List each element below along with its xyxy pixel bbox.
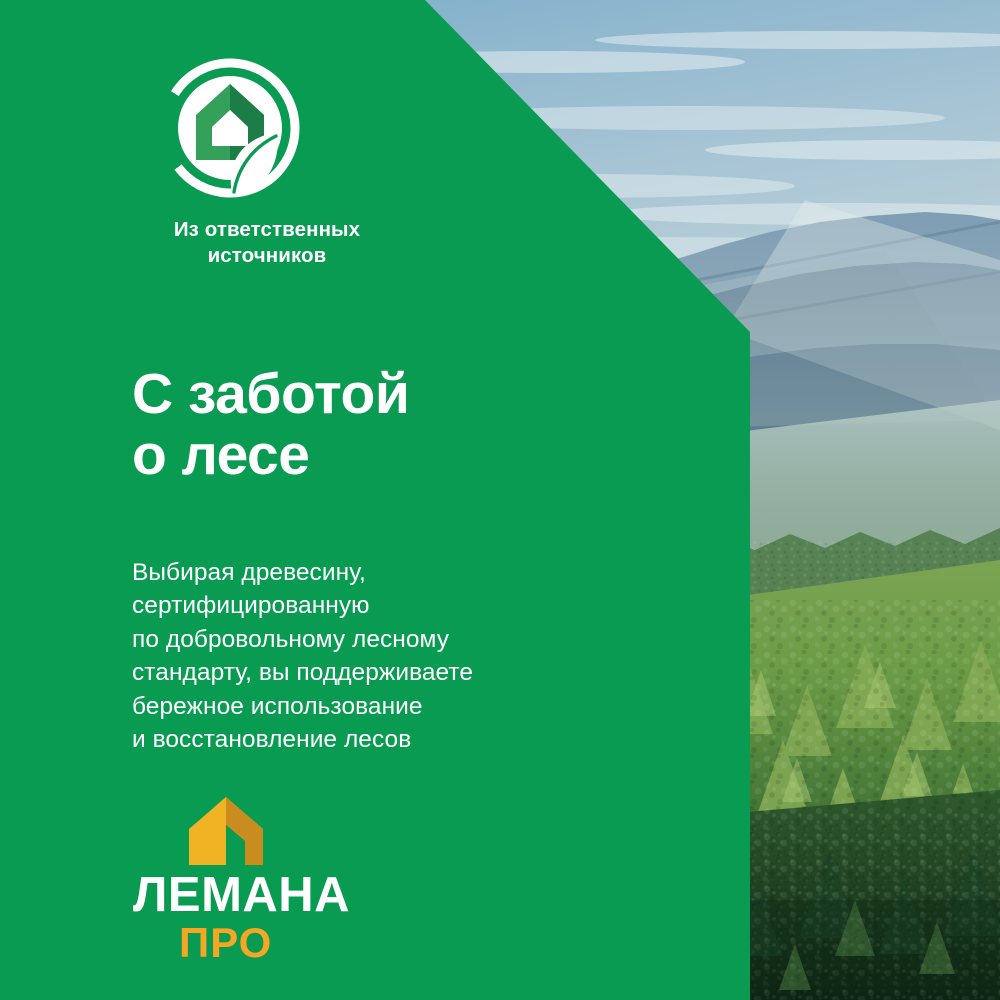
brand-name: ЛЕМАНА <box>133 871 363 920</box>
body-text: Выбирая древесину, сертифицированную по … <box>132 556 473 757</box>
certification-badge: Из ответственных источников <box>132 58 402 269</box>
brand-subtitle: ПРО <box>179 922 363 964</box>
house-leaf-circle-emblem <box>160 58 300 198</box>
brand-lockup: ЛЕМАНА ПРО <box>133 795 363 964</box>
poster-root: Из ответственных источников С заботой о … <box>0 0 1000 1000</box>
lemana-house-icon <box>187 795 265 867</box>
badge-caption: Из ответственных источников <box>132 217 402 269</box>
page-title: С заботой о лесе <box>132 364 409 486</box>
